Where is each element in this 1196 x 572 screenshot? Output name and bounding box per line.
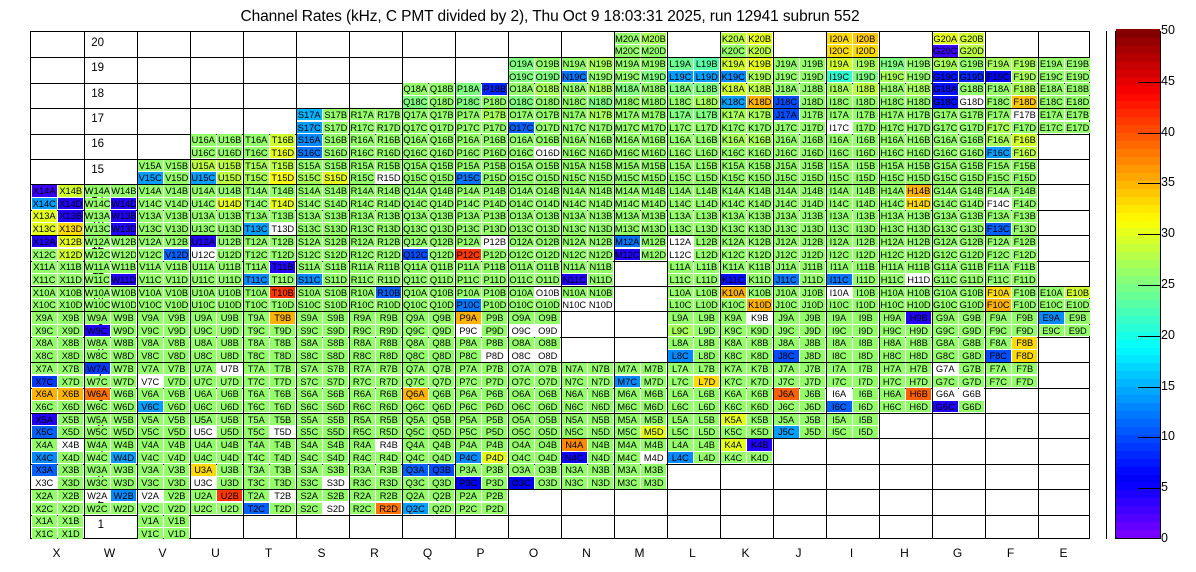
channel-cell[interactable]: W7B	[111, 363, 136, 375]
channel-cell[interactable]: N10C	[562, 299, 587, 311]
channel-cell[interactable]: I11D	[853, 274, 878, 286]
channel-cell[interactable]: K12C	[721, 249, 746, 261]
channel-cell[interactable]: S3D	[323, 477, 348, 489]
channel-cell[interactable]: L7B	[694, 363, 719, 375]
channel-cell[interactable]: H8D	[906, 350, 931, 362]
channel-cell[interactable]: V13A	[138, 210, 163, 222]
channel-cell[interactable]: O15B	[535, 160, 560, 172]
channel-cell[interactable]: O10B	[535, 287, 560, 299]
channel-cell[interactable]: P18C	[456, 96, 481, 108]
channel-cell[interactable]: O18A	[509, 83, 534, 95]
channel-cell[interactable]: F11B	[1012, 261, 1037, 273]
channel-cell[interactable]: W4D	[111, 452, 136, 464]
channel-cell[interactable]: F14C	[986, 198, 1011, 210]
channel-cell[interactable]: G9A	[933, 312, 958, 324]
channel-cell[interactable]: M3B	[641, 464, 666, 476]
channel-cell[interactable]: K5C	[721, 426, 746, 438]
channel-cell[interactable]: I10D	[853, 299, 878, 311]
channel-cell[interactable]: Q17D	[429, 122, 454, 134]
channel-cell[interactable]: L18A	[668, 83, 693, 95]
channel-cell[interactable]: Q13B	[429, 210, 454, 222]
channel-cell[interactable]: N11B	[588, 261, 613, 273]
channel-cell[interactable]: I11A	[827, 261, 852, 273]
channel-cell[interactable]: O9A	[509, 312, 534, 324]
channel-cell[interactable]: P15B	[482, 160, 507, 172]
channel-cell[interactable]: U8D	[217, 350, 242, 362]
channel-cell[interactable]: N17C	[562, 122, 587, 134]
channel-cell[interactable]: M16D	[641, 147, 666, 159]
channel-cell[interactable]: E9D	[1065, 325, 1090, 337]
channel-cell[interactable]: J10B	[800, 287, 825, 299]
channel-cell[interactable]: M19D	[641, 71, 666, 83]
channel-cell[interactable]: H19D	[906, 71, 931, 83]
channel-cell[interactable]: T13C	[244, 223, 269, 235]
channel-cell[interactable]: X5D	[58, 426, 83, 438]
channel-cell[interactable]: K19B	[747, 58, 772, 70]
channel-cell[interactable]: I7D	[853, 376, 878, 388]
channel-cell[interactable]: I15B	[853, 160, 878, 172]
channel-cell[interactable]: X13A	[32, 210, 57, 222]
channel-cell[interactable]: O4C	[509, 452, 534, 464]
channel-cell[interactable]: O4D	[535, 452, 560, 464]
channel-cell[interactable]: E18B	[1065, 83, 1090, 95]
channel-cell[interactable]: V11B	[164, 261, 189, 273]
channel-cell[interactable]: P13B	[482, 210, 507, 222]
channel-cell[interactable]: S8B	[323, 337, 348, 349]
channel-cell[interactable]: U5B	[217, 414, 242, 426]
channel-cell[interactable]: K8C	[721, 350, 746, 362]
channel-cell[interactable]: F16B	[1012, 134, 1037, 146]
channel-cell[interactable]: H16A	[880, 134, 905, 146]
channel-cell[interactable]: O15D	[535, 172, 560, 184]
channel-cell[interactable]: X1D	[58, 528, 83, 540]
channel-cell[interactable]: N6B	[588, 388, 613, 400]
channel-cell[interactable]: J12D	[800, 249, 825, 261]
channel-cell[interactable]: R15B	[376, 160, 401, 172]
channel-cell[interactable]: S16C	[297, 147, 322, 159]
channel-cell[interactable]: W13A	[85, 210, 110, 222]
channel-cell[interactable]: S15C	[297, 172, 322, 184]
channel-cell[interactable]: W5A	[85, 414, 110, 426]
channel-cell[interactable]: T12B	[270, 236, 295, 248]
channel-cell[interactable]: U2A	[191, 490, 216, 502]
channel-cell[interactable]: W14A	[85, 185, 110, 197]
channel-cell[interactable]: L16D	[694, 147, 719, 159]
channel-cell[interactable]: K7C	[721, 376, 746, 388]
channel-cell[interactable]: I11B	[853, 261, 878, 273]
channel-cell[interactable]: F9C	[986, 325, 1011, 337]
channel-cell[interactable]: H15B	[906, 160, 931, 172]
channel-cell[interactable]: X5A	[32, 414, 57, 426]
channel-cell[interactable]: I12C	[827, 249, 852, 261]
channel-cell[interactable]: W13B	[111, 210, 136, 222]
channel-cell[interactable]: F19B	[1012, 58, 1037, 70]
channel-cell[interactable]: P16B	[482, 134, 507, 146]
channel-cell[interactable]: H12D	[906, 249, 931, 261]
channel-cell[interactable]: H12B	[906, 236, 931, 248]
channel-cell[interactable]: Q7D	[429, 376, 454, 388]
channel-cell[interactable]: Q15D	[429, 172, 454, 184]
channel-cell[interactable]: W8A	[85, 337, 110, 349]
channel-cell[interactable]: U8A	[191, 337, 216, 349]
channel-cell[interactable]: O19A	[509, 58, 534, 70]
channel-cell[interactable]: G9B	[959, 312, 984, 324]
channel-cell[interactable]: L17C	[668, 122, 693, 134]
channel-cell[interactable]: K10B	[747, 287, 772, 299]
channel-cell[interactable]: O13D	[535, 223, 560, 235]
channel-cell[interactable]: V1C	[138, 528, 163, 540]
channel-cell[interactable]: Q7A	[403, 363, 428, 375]
channel-cell[interactable]: U11D	[217, 274, 242, 286]
channel-cell[interactable]: Q14B	[429, 185, 454, 197]
channel-cell[interactable]: K11C	[721, 274, 746, 286]
channel-cell[interactable]: O7D	[535, 376, 560, 388]
channel-cell[interactable]: F7C	[986, 376, 1011, 388]
channel-cell[interactable]: R12A	[350, 236, 375, 248]
channel-cell[interactable]: R9B	[376, 312, 401, 324]
channel-cell[interactable]: G6C	[933, 401, 958, 413]
channel-cell[interactable]: I8B	[853, 337, 878, 349]
channel-cell[interactable]: X8D	[58, 350, 83, 362]
channel-cell[interactable]: H14A	[880, 185, 905, 197]
channel-cell[interactable]: J7B	[800, 363, 825, 375]
channel-cell[interactable]: O17A	[509, 109, 534, 121]
channel-cell[interactable]: U9D	[217, 325, 242, 337]
channel-cell[interactable]: L19A	[668, 58, 693, 70]
channel-cell[interactable]: X5C	[32, 426, 57, 438]
channel-cell[interactable]: F7B	[1012, 363, 1037, 375]
channel-cell[interactable]: V3A	[138, 464, 163, 476]
channel-cell[interactable]: R9A	[350, 312, 375, 324]
channel-cell[interactable]: W2D	[111, 503, 136, 515]
channel-cell[interactable]: P12D	[482, 249, 507, 261]
channel-cell[interactable]: X14C	[32, 198, 57, 210]
channel-cell[interactable]: R16B	[376, 134, 401, 146]
channel-cell[interactable]: I13D	[853, 223, 878, 235]
channel-cell[interactable]: G11D	[959, 274, 984, 286]
channel-cell[interactable]: Q8C	[403, 350, 428, 362]
channel-cell[interactable]: I8C	[827, 350, 852, 362]
channel-cell[interactable]: N13B	[588, 210, 613, 222]
channel-cell[interactable]: U13A	[191, 210, 216, 222]
channel-cell[interactable]: P8A	[456, 337, 481, 349]
channel-cell[interactable]: S11C	[297, 274, 322, 286]
channel-cell[interactable]: G16C	[933, 147, 958, 159]
channel-cell[interactable]: O5A	[509, 414, 534, 426]
channel-cell[interactable]: O14D	[535, 198, 560, 210]
channel-cell[interactable]: J18D	[800, 96, 825, 108]
channel-cell[interactable]: Q14D	[429, 198, 454, 210]
channel-cell[interactable]: P4B	[482, 439, 507, 451]
channel-cell[interactable]: O4A	[509, 439, 534, 451]
channel-cell[interactable]: H14D	[906, 198, 931, 210]
channel-cell[interactable]: G16B	[959, 134, 984, 146]
channel-cell[interactable]: E9C	[1039, 325, 1064, 337]
channel-cell[interactable]: H7D	[906, 376, 931, 388]
channel-cell[interactable]: I10C	[827, 299, 852, 311]
channel-cell[interactable]: P13A	[456, 210, 481, 222]
channel-cell[interactable]: M6B	[641, 388, 666, 400]
channel-cell[interactable]: N11C	[562, 274, 587, 286]
channel-cell[interactable]: M3A	[615, 464, 640, 476]
channel-cell[interactable]: V5C	[138, 426, 163, 438]
channel-cell[interactable]: S7D	[323, 376, 348, 388]
channel-cell[interactable]: V12C	[138, 249, 163, 261]
channel-cell[interactable]: J17A	[774, 109, 799, 121]
channel-cell[interactable]: H16D	[906, 147, 931, 159]
channel-cell[interactable]: G12A	[933, 236, 958, 248]
channel-cell[interactable]: T9C	[244, 325, 269, 337]
channel-cell[interactable]: I6D	[853, 401, 878, 413]
channel-cell[interactable]: K18C	[721, 96, 746, 108]
channel-cell[interactable]: U13B	[217, 210, 242, 222]
channel-cell[interactable]: W8D	[111, 350, 136, 362]
channel-cell[interactable]: K11A	[721, 261, 746, 273]
channel-cell[interactable]: P8B	[482, 337, 507, 349]
channel-cell[interactable]: G15B	[959, 160, 984, 172]
channel-cell[interactable]: V15D	[164, 172, 189, 184]
channel-cell[interactable]: G19A	[933, 58, 958, 70]
channel-cell[interactable]: I5A	[827, 414, 852, 426]
channel-cell[interactable]: K15B	[747, 160, 772, 172]
channel-cell[interactable]: R17A	[350, 109, 375, 121]
channel-cell[interactable]: H7B	[906, 363, 931, 375]
channel-cell[interactable]: M13D	[641, 223, 666, 235]
channel-cell[interactable]: Q5C	[403, 426, 428, 438]
channel-cell[interactable]: J14B	[800, 185, 825, 197]
channel-cell[interactable]: H11A	[880, 261, 905, 273]
channel-cell[interactable]: O14A	[509, 185, 534, 197]
channel-cell[interactable]: X8A	[32, 337, 57, 349]
channel-cell[interactable]: T12A	[244, 236, 269, 248]
channel-cell[interactable]: T5B	[270, 414, 295, 426]
channel-cell[interactable]: W2B	[111, 490, 136, 502]
channel-cell[interactable]: O10D	[535, 299, 560, 311]
channel-cell[interactable]: L12B	[694, 236, 719, 248]
channel-cell[interactable]: O18C	[509, 96, 534, 108]
channel-cell[interactable]: M19B	[641, 58, 666, 70]
channel-cell[interactable]: N11A	[562, 261, 587, 273]
channel-cell[interactable]: S13C	[297, 223, 322, 235]
channel-cell[interactable]: L11A	[668, 261, 693, 273]
channel-cell[interactable]: Q11A	[403, 261, 428, 273]
channel-cell[interactable]: L19B	[694, 58, 719, 70]
channel-cell[interactable]: R10C	[350, 299, 375, 311]
channel-cell[interactable]: L8D	[694, 350, 719, 362]
channel-cell[interactable]: U15C	[191, 172, 216, 184]
channel-cell[interactable]: J17B	[800, 109, 825, 121]
channel-cell[interactable]: H10C	[880, 299, 905, 311]
channel-cell[interactable]: Q2C	[403, 503, 428, 515]
channel-cell[interactable]: J16B	[800, 134, 825, 146]
channel-cell[interactable]: N12A	[562, 236, 587, 248]
channel-cell[interactable]: F13D	[1012, 223, 1037, 235]
channel-cell[interactable]: M14C	[615, 198, 640, 210]
channel-cell[interactable]: R13A	[350, 210, 375, 222]
channel-cell[interactable]: J16C	[774, 147, 799, 159]
channel-cell[interactable]: O14C	[509, 198, 534, 210]
channel-cell[interactable]: I15D	[853, 172, 878, 184]
channel-cell[interactable]: E17D	[1065, 122, 1090, 134]
channel-cell[interactable]: T11C	[244, 274, 269, 286]
channel-cell[interactable]: U9A	[191, 312, 216, 324]
channel-cell[interactable]: F8D	[1012, 350, 1037, 362]
channel-cell[interactable]: X11D	[58, 274, 83, 286]
channel-cell[interactable]: T13D	[270, 223, 295, 235]
channel-cell[interactable]: X9C	[32, 325, 57, 337]
channel-cell[interactable]: W9A	[85, 312, 110, 324]
channel-cell[interactable]: O8B	[535, 337, 560, 349]
channel-cell[interactable]: M12B	[641, 236, 666, 248]
channel-cell[interactable]: F12D	[1012, 249, 1037, 261]
channel-cell[interactable]: I14B	[853, 185, 878, 197]
channel-cell[interactable]: W11D	[111, 274, 136, 286]
channel-cell[interactable]: Q4A	[403, 439, 428, 451]
channel-cell[interactable]: M20B	[641, 33, 666, 45]
channel-cell[interactable]: F16A	[986, 134, 1011, 146]
channel-cell[interactable]: I9C	[827, 325, 852, 337]
channel-cell[interactable]: J17D	[800, 122, 825, 134]
channel-cell[interactable]: W12A	[85, 236, 110, 248]
channel-cell[interactable]: I16C	[827, 147, 852, 159]
channel-cell[interactable]: G12D	[959, 249, 984, 261]
channel-cell[interactable]: H17B	[906, 109, 931, 121]
channel-cell[interactable]: E17C	[1039, 122, 1064, 134]
channel-cell[interactable]: U2B	[217, 490, 242, 502]
channel-cell[interactable]: G15A	[933, 160, 958, 172]
channel-cell[interactable]: G11B	[959, 261, 984, 273]
channel-cell[interactable]: T2B	[270, 490, 295, 502]
channel-cell[interactable]: G18C	[933, 96, 958, 108]
channel-cell[interactable]: G13A	[933, 210, 958, 222]
channel-cell[interactable]: K5D	[747, 426, 772, 438]
channel-cell[interactable]: O9B	[535, 312, 560, 324]
channel-cell[interactable]: K20D	[747, 45, 772, 57]
channel-cell[interactable]: O7C	[509, 376, 534, 388]
channel-cell[interactable]: T9D	[270, 325, 295, 337]
channel-cell[interactable]: T15C	[244, 172, 269, 184]
channel-cell[interactable]: S5C	[297, 426, 322, 438]
channel-cell[interactable]: Q13D	[429, 223, 454, 235]
channel-cell[interactable]: K13B	[747, 210, 772, 222]
channel-cell[interactable]: I17C	[827, 122, 852, 134]
channel-cell[interactable]: I13B	[853, 210, 878, 222]
channel-cell[interactable]: J10C	[774, 299, 799, 311]
channel-cell[interactable]: Q9D	[429, 325, 454, 337]
channel-cell[interactable]: V10B	[164, 287, 189, 299]
channel-cell[interactable]: S7B	[323, 363, 348, 375]
channel-cell[interactable]: K17A	[721, 109, 746, 121]
channel-cell[interactable]: L10B	[694, 287, 719, 299]
channel-cell[interactable]: L4B	[694, 439, 719, 451]
channel-cell[interactable]: X4C	[32, 452, 57, 464]
channel-cell[interactable]: M19A	[615, 58, 640, 70]
channel-cell[interactable]: F18A	[986, 83, 1011, 95]
channel-cell[interactable]: X1B	[58, 515, 83, 527]
channel-cell[interactable]: H9A	[880, 312, 905, 324]
channel-cell[interactable]: S4A	[297, 439, 322, 451]
channel-cell[interactable]: V5D	[164, 426, 189, 438]
channel-cell[interactable]: H15A	[880, 160, 905, 172]
channel-cell[interactable]: X2A	[32, 490, 57, 502]
channel-cell[interactable]: V2D	[164, 503, 189, 515]
channel-cell[interactable]: U9C	[191, 325, 216, 337]
channel-cell[interactable]: K16B	[747, 134, 772, 146]
channel-cell[interactable]: U3B	[217, 464, 242, 476]
channel-cell[interactable]: G14D	[959, 198, 984, 210]
channel-cell[interactable]: Q3B	[429, 464, 454, 476]
channel-cell[interactable]: X13D	[58, 223, 83, 235]
channel-cell[interactable]: R13C	[350, 223, 375, 235]
channel-cell[interactable]: W6A	[85, 388, 110, 400]
channel-cell[interactable]: P14A	[456, 185, 481, 197]
channel-cell[interactable]: O16A	[509, 134, 534, 146]
channel-cell[interactable]: R12C	[350, 249, 375, 261]
channel-cell[interactable]: I8A	[827, 337, 852, 349]
channel-cell[interactable]: M15A	[615, 160, 640, 172]
channel-cell[interactable]: X1A	[32, 515, 57, 527]
channel-cell[interactable]: J7A	[774, 363, 799, 375]
channel-cell[interactable]: S4B	[323, 439, 348, 451]
channel-cell[interactable]: S2C	[297, 503, 322, 515]
channel-cell[interactable]: F11D	[1012, 274, 1037, 286]
channel-cell[interactable]: G12B	[959, 236, 984, 248]
channel-cell[interactable]: H10B	[906, 287, 931, 299]
channel-cell[interactable]: J19A	[774, 58, 799, 70]
channel-cell[interactable]: X6B	[58, 388, 83, 400]
channel-cell[interactable]: L6A	[668, 388, 693, 400]
channel-cell[interactable]: K9A	[721, 312, 746, 324]
channel-cell[interactable]: T8B	[270, 337, 295, 349]
channel-cell[interactable]: F15C	[986, 172, 1011, 184]
channel-cell[interactable]: H12C	[880, 249, 905, 261]
channel-cell[interactable]: I10A	[827, 287, 852, 299]
channel-cell[interactable]: X8C	[32, 350, 57, 362]
channel-cell[interactable]: K13A	[721, 210, 746, 222]
channel-cell[interactable]: Q15A	[403, 160, 428, 172]
channel-cell[interactable]: O15C	[509, 172, 534, 184]
channel-cell[interactable]: R6B	[376, 388, 401, 400]
channel-cell[interactable]: W14C	[85, 198, 110, 210]
channel-cell[interactable]: Q11B	[429, 261, 454, 273]
channel-cell[interactable]: F19A	[986, 58, 1011, 70]
channel-cell[interactable]: T9A	[244, 312, 269, 324]
channel-cell[interactable]: P3D	[482, 477, 507, 489]
channel-cell[interactable]: U8C	[191, 350, 216, 362]
channel-cell[interactable]: E9A	[1039, 312, 1064, 324]
channel-cell[interactable]: P11C	[456, 274, 481, 286]
channel-cell[interactable]: F18C	[986, 96, 1011, 108]
channel-cell[interactable]: F12C	[986, 249, 1011, 261]
channel-cell[interactable]: V6B	[164, 388, 189, 400]
channel-cell[interactable]: H11B	[906, 261, 931, 273]
channel-cell[interactable]: V1A	[138, 515, 163, 527]
channel-cell[interactable]: M20D	[641, 45, 666, 57]
channel-cell[interactable]: S10C	[297, 299, 322, 311]
channel-cell[interactable]: X6A	[32, 388, 57, 400]
channel-cell[interactable]: R17B	[376, 109, 401, 121]
channel-cell[interactable]: G6A	[933, 388, 958, 400]
channel-cell[interactable]: O12C	[509, 249, 534, 261]
channel-cell[interactable]: P2A	[456, 490, 481, 502]
channel-cell[interactable]: J8B	[800, 337, 825, 349]
channel-cell[interactable]: I14A	[827, 185, 852, 197]
channel-cell[interactable]: Q9B	[429, 312, 454, 324]
channel-cell[interactable]: P15D	[482, 172, 507, 184]
channel-cell[interactable]: O11A	[509, 261, 534, 273]
channel-cell[interactable]: P15C	[456, 172, 481, 184]
channel-cell[interactable]: W11A	[85, 261, 110, 273]
